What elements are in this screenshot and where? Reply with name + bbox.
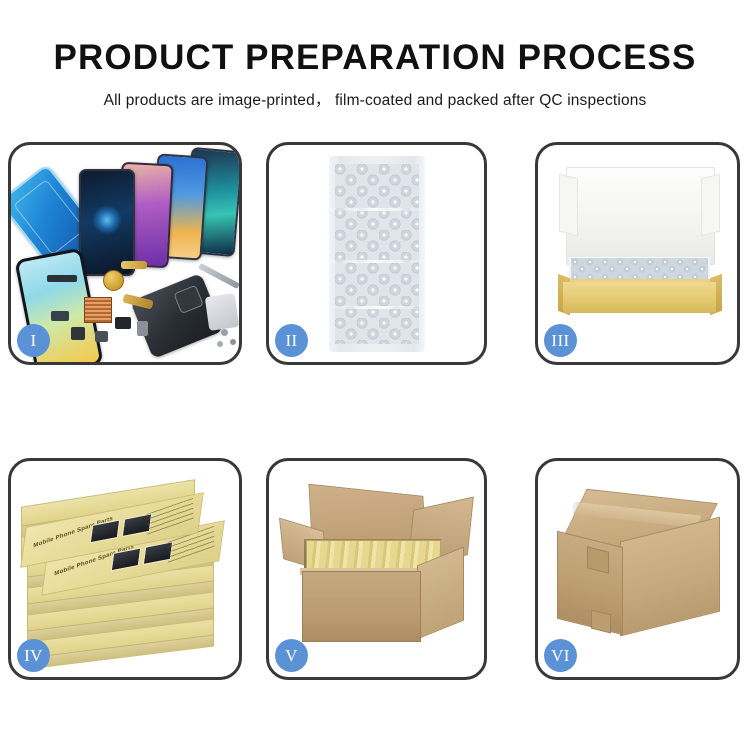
parts-pouch-icon [205, 293, 239, 331]
speaker-bar-icon [47, 275, 77, 282]
chip-icon [71, 327, 85, 340]
chip-icon [51, 311, 69, 321]
pouch-seam [329, 306, 425, 309]
bubble-wrap-pouch-icon [329, 156, 425, 352]
box-artwork-swatch [111, 548, 142, 573]
box-tray-front [563, 282, 717, 313]
sealed-shipping-carton-icon [548, 489, 727, 655]
carton-flap-tab [591, 609, 611, 633]
step-panel-3[interactable]: III [535, 142, 740, 365]
box-lid-flap-right [701, 174, 720, 236]
open-shipping-carton-icon [279, 487, 474, 659]
box-spec-lines [147, 497, 194, 538]
pouch-seam [329, 260, 425, 263]
step-panel-2[interactable]: II [266, 142, 487, 365]
box-lid-flap-left [559, 174, 578, 236]
step-panel-5[interactable]: V [266, 458, 487, 680]
step-badge-5: V [275, 639, 308, 672]
step-badge-2: II [275, 324, 308, 357]
mesh-grid-icon [84, 297, 112, 323]
chip-icon [95, 331, 108, 342]
process-step-grid: I II II [0, 0, 750, 750]
screw-icon [230, 339, 236, 345]
step-badge-3: III [544, 324, 577, 357]
step-panel-4[interactable]: Mobile Phone Spare Parts Mobile Phone Sp… [8, 458, 242, 680]
screw-icon [221, 329, 228, 336]
open-mailer-box-icon [556, 167, 723, 322]
box-lid [566, 167, 715, 265]
chip-icon [137, 321, 148, 336]
pouch-seam [329, 208, 425, 211]
step-badge-6: VI [544, 639, 577, 672]
screw-icon [217, 341, 223, 347]
step-badge-1: I [17, 324, 50, 357]
step-panel-1[interactable]: I [8, 142, 242, 365]
coil-icon [103, 270, 124, 291]
carton-front-panel [302, 571, 421, 642]
carton-flap-tab [587, 546, 609, 573]
phone-dark-icon [79, 169, 135, 276]
stacked-retail-boxes-icon: Mobile Phone Spare Parts Mobile Phone Sp… [19, 481, 229, 661]
step-panel-6[interactable]: VI [535, 458, 740, 680]
step-badge-4: IV [17, 639, 50, 672]
bubble-texture [335, 164, 419, 344]
chip-icon [115, 317, 131, 329]
flex-cable-icon [121, 261, 147, 269]
